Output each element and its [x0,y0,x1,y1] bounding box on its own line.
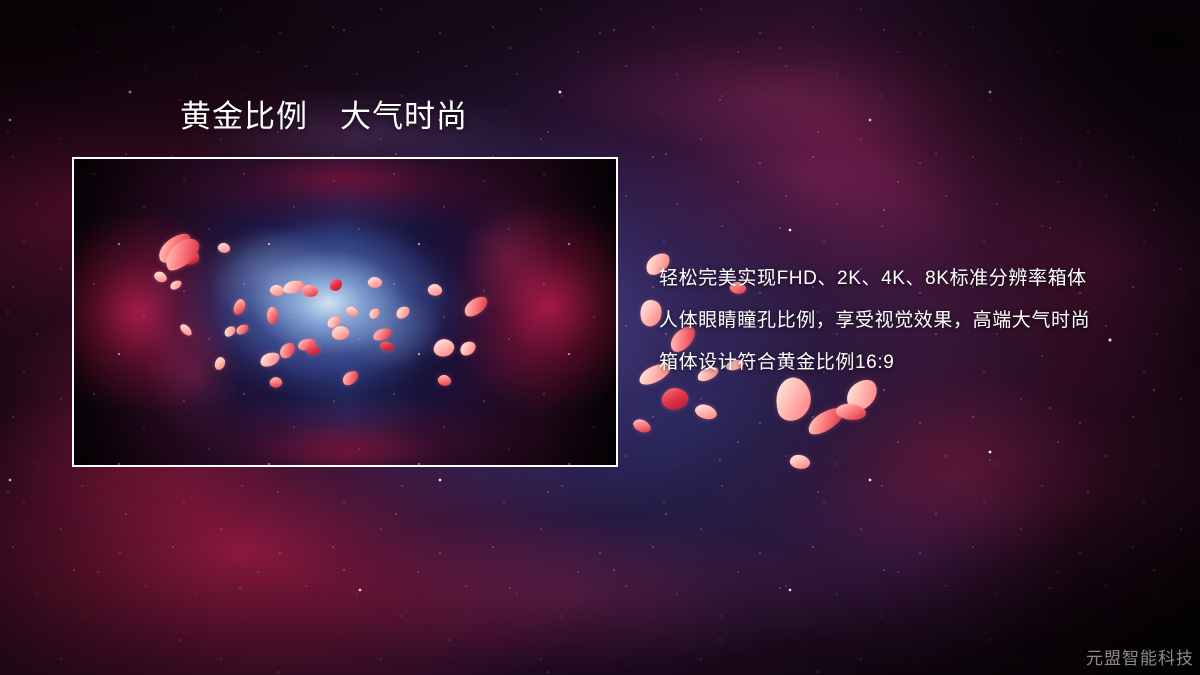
petal-icon [631,416,653,436]
description-line: 轻松完美实现FHD、2K、4K、8K标准分辨率箱体 [659,258,1179,300]
nebula-preview-panel [72,157,618,467]
petal-icon [660,386,690,413]
page-title: 黄金比例 大气时尚 [180,100,468,134]
description-line: 人体眼睛瞳孔比例，享受视觉效果，高端大气时尚 [659,300,1179,342]
petal-icon [693,401,719,423]
feature-description: 轻松完美实现FHD、2K、4K、8K标准分辨率箱体 人体眼睛瞳孔比例，享受视觉效… [659,258,1179,384]
watermark: 元盟智能科技 [1086,644,1194,669]
presentation-slide: 黄金比例 大气时尚 轻松完美实现FHD、2K、4K、8K标准分辨率箱体 人体眼睛… [0,0,1200,675]
petal-icon [788,452,812,472]
panel-vignette [74,159,616,465]
description-line: 箱体设计符合黄金比例16:9 [659,342,1179,384]
